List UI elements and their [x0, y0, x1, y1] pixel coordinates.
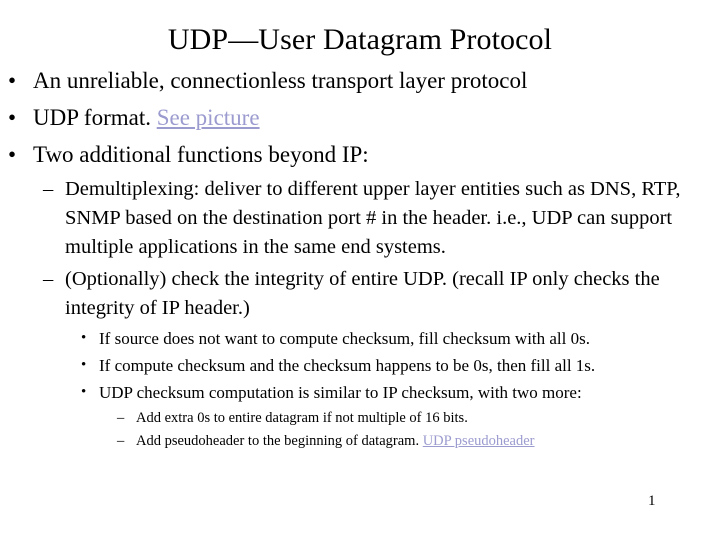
slide-body-list: • An unreliable, connectionless transpor… [0, 64, 720, 452]
list-item-level1: • An unreliable, connectionless transpor… [0, 64, 708, 97]
slide: UDP—User Datagram Protocol • An unreliab… [0, 0, 720, 540]
dash-bullet-icon: – [117, 430, 124, 452]
list-item-level3: • UDP checksum computation is similar to… [0, 380, 706, 405]
list-item-level4: – Add extra 0s to entire datagram if not… [0, 407, 706, 429]
list-item-level1: • UDP format. See picture [0, 101, 708, 134]
round-bullet-icon: • [8, 64, 16, 97]
page-number: 1 [648, 491, 656, 511]
bullet-1-text: An unreliable, connectionless transport … [33, 68, 527, 93]
sub-sub-2-text: If compute checksum and the checksum hap… [99, 356, 595, 375]
round-bullet-icon: • [81, 380, 86, 405]
list-item-level2: – Demultiplexing: deliver to different u… [0, 175, 702, 262]
round-bullet-icon: • [81, 353, 86, 378]
udp-pseudoheader-link[interactable]: UDP pseudoheader [423, 433, 535, 449]
dash-bullet-icon: – [117, 407, 124, 429]
dash-bullet-icon: – [43, 175, 53, 204]
list-item-level2: – (Optionally) check the integrity of en… [0, 265, 702, 323]
bullet-3-text: Two additional functions beyond IP: [33, 142, 369, 167]
sub-sub-1-text: If source does not want to compute check… [99, 329, 590, 348]
round-bullet-icon: • [8, 101, 16, 134]
see-picture-link[interactable]: See picture [157, 105, 260, 130]
round-bullet-icon: • [81, 326, 86, 351]
sub-sub-sub-2-text: Add pseudoheader to the beginning of dat… [136, 433, 419, 449]
list-item-level4: – Add pseudoheader to the beginning of d… [0, 430, 706, 452]
round-bullet-icon: • [8, 138, 16, 171]
sub-1-text: Demultiplexing: deliver to different upp… [65, 178, 681, 258]
bullet-2-text: UDP format. [33, 105, 151, 130]
page-title: UDP—User Datagram Protocol [0, 0, 720, 64]
list-item-level3: • If source does not want to compute che… [0, 326, 706, 351]
dash-bullet-icon: – [43, 265, 53, 294]
sub-sub-sub-1-text: Add extra 0s to entire datagram if not m… [136, 410, 468, 426]
sub-2-text: (Optionally) check the integrity of enti… [65, 268, 660, 319]
list-item-level1: • Two additional functions beyond IP: [0, 138, 708, 171]
sub-sub-3-text: UDP checksum computation is similar to I… [99, 383, 582, 402]
list-item-level3: • If compute checksum and the checksum h… [0, 353, 706, 378]
